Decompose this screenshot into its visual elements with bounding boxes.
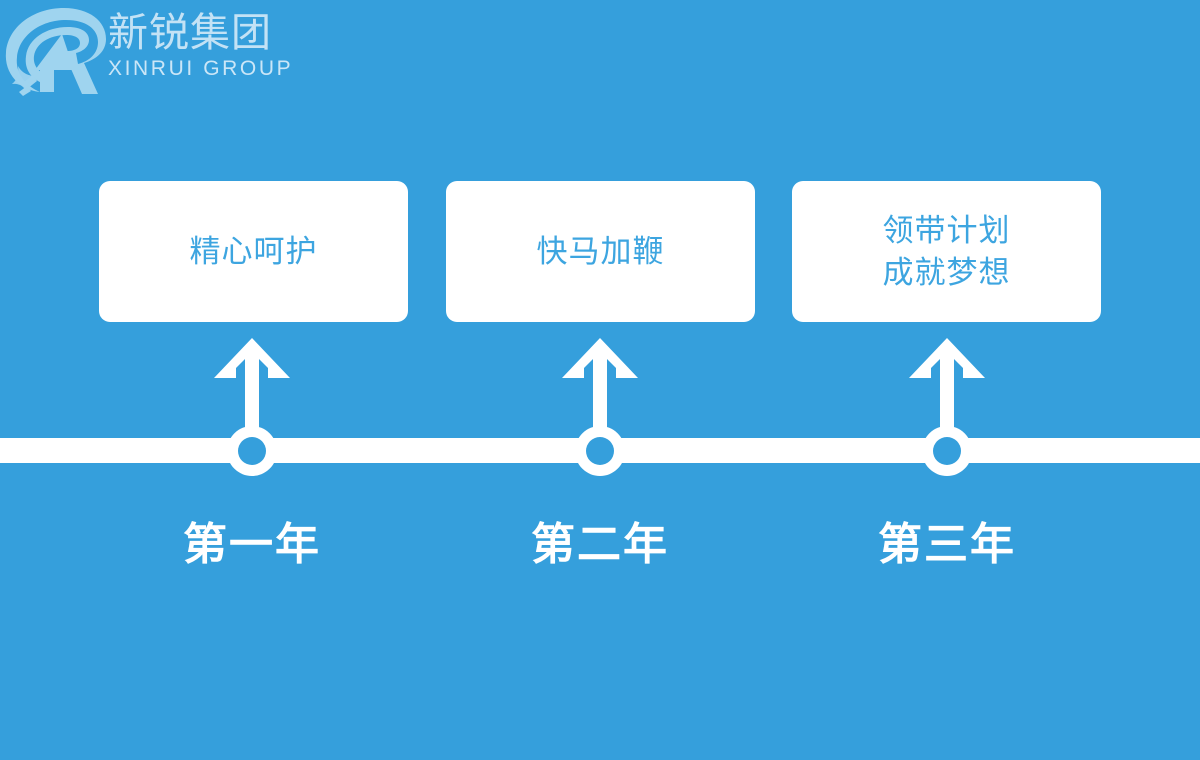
milestone-card-1: 精心呵护 — [99, 181, 408, 322]
timeline-year-label-2: 第二年 — [470, 516, 730, 574]
company-logo: 新锐集团 XINRUI GROUP — [0, 0, 300, 100]
timeline-node-3 — [922, 426, 972, 476]
milestone-card-2-text: 快马加鞭 — [537, 231, 665, 273]
milestone-card-1-text: 精心呵护 — [190, 231, 318, 273]
timeline-node-1-center — [238, 437, 266, 465]
timeline-node-2-center — [586, 437, 614, 465]
logo-wordmark: 新锐集团 XINRUI GROUP — [108, 10, 298, 90]
logo-company-name-cn: 新锐集团 — [108, 10, 298, 56]
timeline-node-3-center — [933, 437, 961, 465]
milestone-card-2: 快马加鞭 — [446, 181, 755, 322]
logo-company-name-en: XINRUI GROUP — [108, 56, 298, 82]
milestone-card-3-text: 领带计划 成就梦想 — [883, 210, 1011, 294]
timeline-year-label-1: 第一年 — [122, 516, 382, 574]
milestone-card-3: 领带计划 成就梦想 — [792, 181, 1101, 322]
timeline-node-2 — [575, 426, 625, 476]
timeline-node-1 — [227, 426, 277, 476]
timeline-slide: 新锐集团 XINRUI GROUP 精心呵护 快马加鞭 领带计划 成就梦想 — [0, 0, 1200, 760]
xinrui-r-swoosh-mark-icon — [2, 4, 106, 96]
timeline-year-label-3: 第三年 — [817, 516, 1077, 574]
